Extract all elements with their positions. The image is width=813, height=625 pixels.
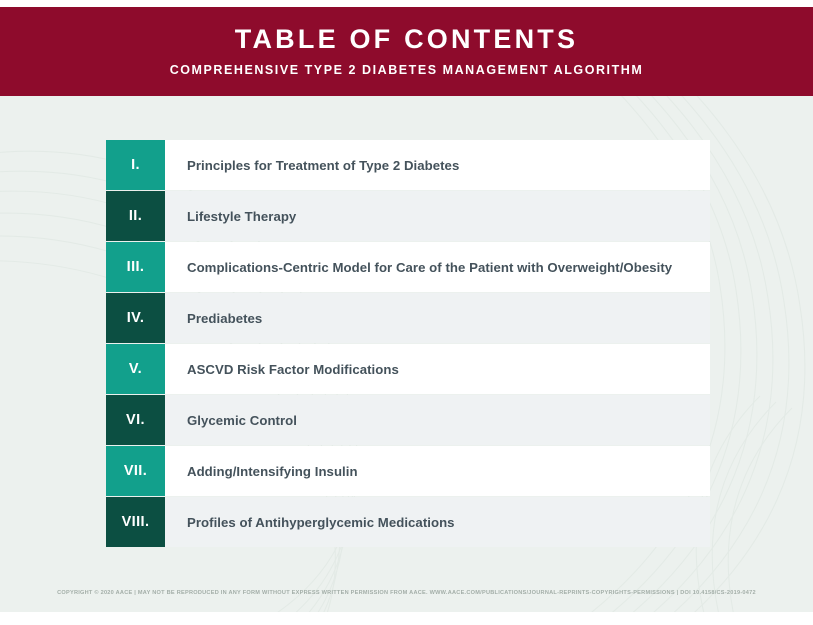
toc-entry-label: ASCVD Risk Factor Modifications [165,344,710,394]
toc-entry-label: Principles for Treatment of Type 2 Diabe… [165,140,710,190]
document-body: I. Principles for Treatment of Type 2 Di… [0,96,813,612]
table-of-contents-list: I. Principles for Treatment of Type 2 Di… [106,140,710,548]
page-title: TABLE OF CONTENTS [235,25,578,55]
toc-entry-label: Lifestyle Therapy [165,191,710,241]
toc-entry-label: Prediabetes [165,293,710,343]
toc-numeral: III. [106,242,165,292]
toc-numeral: VII. [106,446,165,496]
list-item[interactable]: VII. Adding/Intensifying Insulin [106,446,710,496]
list-item[interactable]: VI. Glycemic Control [106,395,710,445]
toc-entry-label: Glycemic Control [165,395,710,445]
list-item[interactable]: II. Lifestyle Therapy [106,191,710,241]
list-item[interactable]: V. ASCVD Risk Factor Modifications [106,344,710,394]
list-item[interactable]: VIII. Profiles of Antihyperglycemic Medi… [106,497,710,547]
document-footer: COPYRIGHT © 2020 AACE | MAY NOT BE REPRO… [0,590,813,597]
toc-numeral: II. [106,191,165,241]
page-subtitle: COMPREHENSIVE TYPE 2 DIABETES MANAGEMENT… [170,64,644,78]
document-page: TABLE OF CONTENTS COMPREHENSIVE TYPE 2 D… [0,0,813,625]
toc-entry-label: Adding/Intensifying Insulin [165,446,710,496]
list-item[interactable]: IV. Prediabetes [106,293,710,343]
toc-numeral: I. [106,140,165,190]
toc-numeral: VIII. [106,497,165,547]
document-header: TABLE OF CONTENTS COMPREHENSIVE TYPE 2 D… [0,7,813,96]
toc-numeral: VI. [106,395,165,445]
toc-entry-label: Complications-Centric Model for Care of … [165,242,710,292]
toc-numeral: IV. [106,293,165,343]
toc-numeral: V. [106,344,165,394]
list-item[interactable]: I. Principles for Treatment of Type 2 Di… [106,140,710,190]
list-item[interactable]: III. Complications-Centric Model for Car… [106,242,710,292]
toc-entry-label: Profiles of Antihyperglycemic Medication… [165,497,710,547]
copyright-notice: COPYRIGHT © 2020 AACE | MAY NOT BE REPRO… [0,590,813,597]
